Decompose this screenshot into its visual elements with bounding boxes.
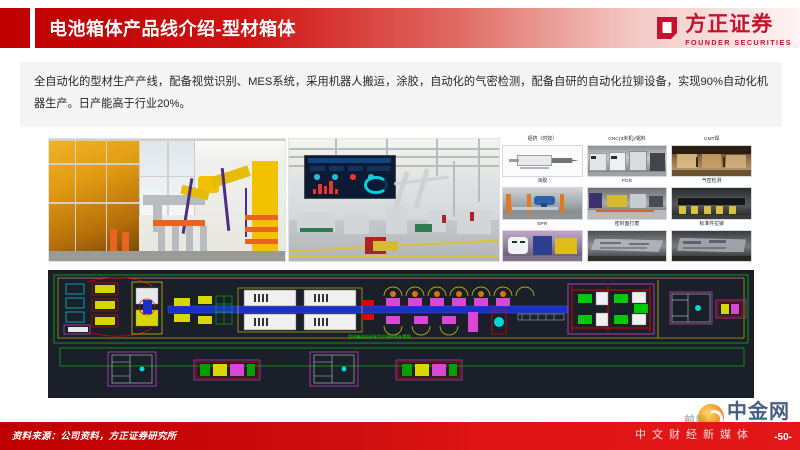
slide: 电池箱体产品线介绍-型材箱体 方正证券 FOUNDER SECURITIES 全… <box>0 0 800 450</box>
production-line-cad-layout: 型材箱体自动化生产线平面布置图 <box>48 270 754 398</box>
page-title: 电池箱体产品线介绍-型材箱体 <box>35 15 296 41</box>
description-paragraph: 全自动化的型材生产产线，配备视觉识别、MES系统，采用机器人搬运，涂胶，自动化的… <box>20 62 782 127</box>
process-cell-2: CMT焊 <box>671 138 752 177</box>
process-cell-5: 气密检测 <box>671 180 752 219</box>
process-cell-0: 铝挤（时效） <box>502 138 583 177</box>
sealing-surface-polish-photo <box>587 230 668 262</box>
process-cell-6: SPR <box>502 223 583 262</box>
process-label-7: 密封面打磨 <box>615 223 639 230</box>
slide-header: 电池箱体产品线介绍-型材箱体 方正证券 FOUNDER SECURITIES <box>0 8 800 48</box>
founder-securities-logo-icon <box>654 14 680 42</box>
process-cell-8: 标准件拉铆 <box>671 223 752 262</box>
cad-drawing-svg: 型材箱体自动化生产线平面布置图 <box>48 270 754 398</box>
logo-cn-text: 方正证券 <box>685 14 792 35</box>
process-grid: 铝挤（时效） CNC(3米机)/锯料 <box>502 138 752 262</box>
process-cell-7: 密封面打磨 <box>587 223 668 262</box>
process-label-8: 标准件拉铆 <box>699 223 723 230</box>
brand-logo: 方正证券 FOUNDER SECURITIES <box>654 14 792 47</box>
mes-dashboard-screen <box>304 155 396 199</box>
process-cell-1: CNC(3米机)/锯料 <box>587 138 668 177</box>
page-number: -50- <box>774 432 792 443</box>
source-note: 资料来源：公司资料，方正证券研究所 <box>12 428 176 442</box>
spr-photo <box>502 230 583 262</box>
cad-caption: 型材箱体自动化生产线平面布置图 <box>348 333 411 340</box>
watermark-cn-text: 中金网 <box>727 402 790 422</box>
process-label-3: 涂胶 <box>537 180 547 187</box>
airtight-test-photo <box>671 187 752 219</box>
footer-watermark: 中文财经新媒体 <box>635 426 754 442</box>
cmt-welding-photo <box>671 145 752 177</box>
cnc-machine-photo <box>587 145 668 177</box>
logo-wordmark: 方正证券 FOUNDER SECURITIES <box>685 14 792 47</box>
fds-photo <box>587 187 668 219</box>
process-label-4: FDS <box>622 180 632 187</box>
process-cell-3: 涂胶 <box>502 180 583 219</box>
process-label-5: 气密检测 <box>702 180 722 187</box>
process-label-0: 铝挤（时效） <box>528 138 557 145</box>
process-label-2: CMT焊 <box>704 138 719 145</box>
process-cell-4: FDS <box>587 180 668 219</box>
process-label-1: CNC(3米机)/锯料 <box>608 138 646 145</box>
gluing-photo <box>502 187 583 219</box>
logo-en-text: FOUNDER SECURITIES <box>685 38 792 47</box>
slide-footer: 资料来源：公司资料，方正证券研究所 中文财经新媒体 -50- <box>0 422 800 450</box>
process-label-6: SPR <box>537 223 547 230</box>
photo-row: 铝挤（时效） CNC(3米机)/锯料 <box>48 138 754 262</box>
header-accent-block <box>0 8 30 48</box>
extrusion-diagram-icon <box>502 145 583 177</box>
production-line-mes-photo <box>288 138 500 262</box>
robot-welding-cell-photo <box>48 138 286 262</box>
standard-part-riveting-photo <box>671 230 752 262</box>
